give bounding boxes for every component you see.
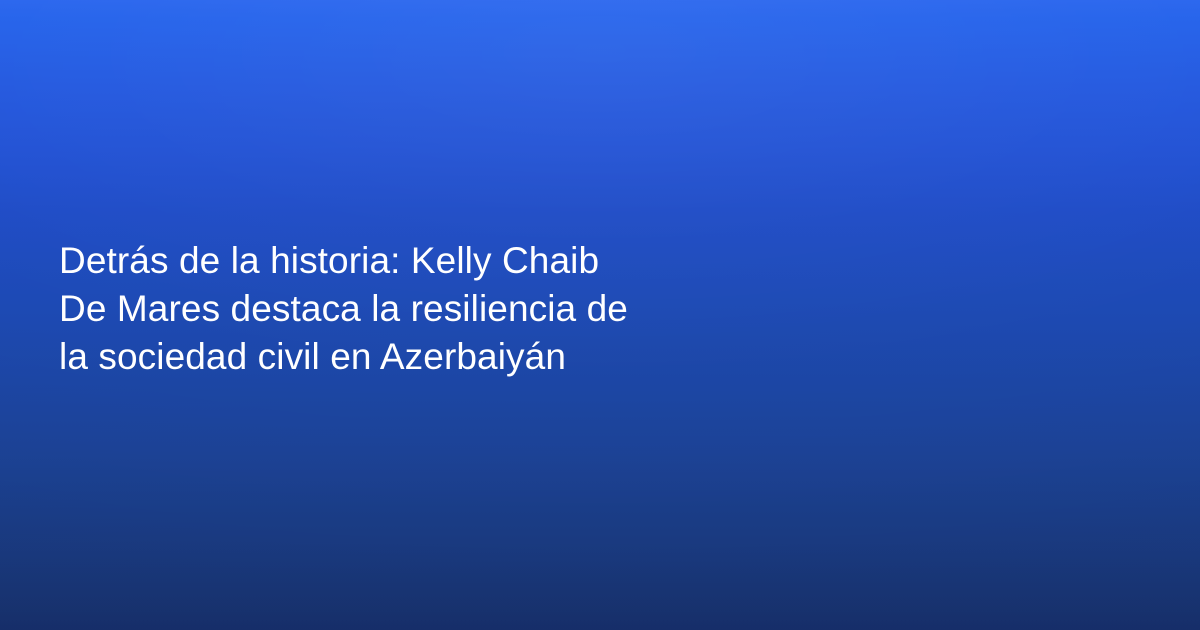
headline-text: Detrás de la historia: Kelly Chaib De Ma… [59, 237, 699, 381]
social-share-card: Detrás de la historia: Kelly Chaib De Ma… [0, 0, 1200, 630]
headline-container: Detrás de la historia: Kelly Chaib De Ma… [59, 237, 699, 381]
